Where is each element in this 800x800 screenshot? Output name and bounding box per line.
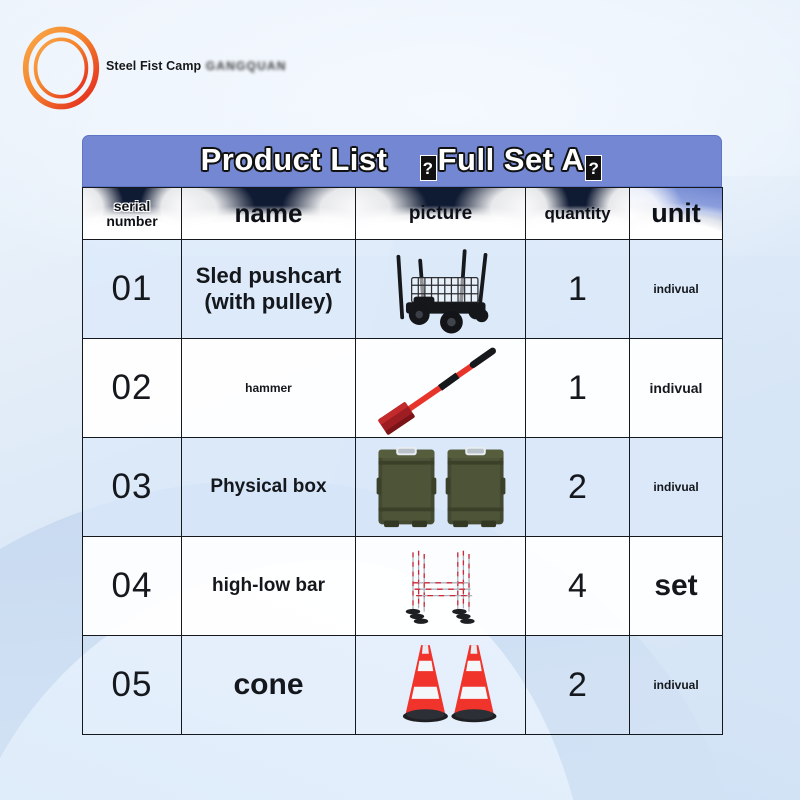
- product-name-line2: (with pulley): [182, 289, 355, 315]
- table-row: 04 high-low bar: [83, 537, 723, 636]
- brand-text-block: Steel Fist Camp GANGQUAN: [106, 57, 287, 79]
- page-title-inner: Full Set A: [438, 142, 585, 177]
- table-header-row: serial number name picture quantity: [83, 188, 723, 240]
- product-name-line1: Sled pushcart: [182, 263, 355, 289]
- cell-quantity: 2: [526, 636, 630, 735]
- column-header-serial-line1: serial: [83, 199, 181, 214]
- column-header-unit: unit: [630, 188, 723, 240]
- high-low-hurdle-bars-image-icon: [356, 538, 525, 634]
- two-olive-hard-cases-image-icon: [356, 439, 525, 535]
- cell-product-name: hammer: [182, 339, 356, 438]
- table-row: 05 cone: [83, 636, 723, 735]
- cell-product-picture: [356, 537, 526, 636]
- product-table: serial number name picture quantity: [82, 187, 723, 735]
- brand-name: Steel Fist Camp: [106, 59, 201, 73]
- column-header-unit-label: unit: [630, 199, 722, 227]
- cell-unit: indivual: [630, 240, 723, 339]
- cell-product-name: Sled pushcart (with pulley): [182, 240, 356, 339]
- two-traffic-cones-image-icon: [356, 637, 525, 733]
- cell-serial-number: 03: [83, 438, 182, 537]
- unit-label: indivual: [630, 380, 722, 396]
- cell-product-picture: [356, 339, 526, 438]
- title-bar: Product List ?Full Set A?: [82, 135, 722, 187]
- cell-unit: indivual: [630, 438, 723, 537]
- column-header-picture-label: picture: [356, 204, 525, 224]
- product-name-line1: cone: [182, 667, 355, 703]
- page-title: Product List ?Full Set A?: [201, 142, 604, 181]
- unit-label: indivual: [630, 678, 722, 692]
- cell-quantity: 1: [526, 240, 630, 339]
- cell-quantity: 1: [526, 339, 630, 438]
- column-header-name: name: [182, 188, 356, 240]
- steel-fist-circle-logo-icon: [20, 25, 102, 111]
- cell-serial-number: 05: [83, 636, 182, 735]
- cell-unit: indivual: [630, 636, 723, 735]
- cell-quantity: 4: [526, 537, 630, 636]
- column-header-serial-line2: number: [83, 214, 181, 229]
- cell-quantity: 2: [526, 438, 630, 537]
- unit-label: indivual: [630, 282, 722, 296]
- page-title-main: Product List: [201, 142, 388, 177]
- cell-unit: indivual: [630, 339, 723, 438]
- product-list-card: Product List ?Full Set A? serial number: [82, 135, 722, 735]
- brand-logo-block: Steel Fist Camp GANGQUAN: [20, 25, 287, 111]
- sled-pushcart-image-icon: [356, 241, 525, 337]
- column-header-serial-number: serial number: [83, 188, 182, 240]
- table-row: 01 Sled pushcart (with pulley): [83, 240, 723, 339]
- column-header-name-label: name: [182, 200, 355, 227]
- cell-serial-number: 04: [83, 537, 182, 636]
- unit-label: set: [630, 569, 722, 603]
- missing-glyph-close-bracket: ?: [585, 155, 602, 181]
- cell-product-name: Physical box: [182, 438, 356, 537]
- column-header-picture: picture: [356, 188, 526, 240]
- table-row: 02 hammer: [83, 339, 723, 438]
- cell-product-name: cone: [182, 636, 356, 735]
- cell-serial-number: 02: [83, 339, 182, 438]
- missing-glyph-open-bracket: ?: [420, 155, 437, 181]
- column-header-quantity-label: quantity: [526, 205, 629, 223]
- cell-product-picture: [356, 438, 526, 537]
- brand-subtitle: GANGQUAN: [206, 59, 287, 73]
- unit-label: indivual: [630, 480, 722, 494]
- table-row: 03 Physical box: [83, 438, 723, 537]
- column-header-quantity: quantity: [526, 188, 630, 240]
- cell-product-name: high-low bar: [182, 537, 356, 636]
- cell-serial-number: 01: [83, 240, 182, 339]
- sledgehammer-image-icon: [356, 340, 525, 436]
- cell-product-picture: [356, 240, 526, 339]
- cell-unit: set: [630, 537, 723, 636]
- cell-product-picture: [356, 636, 526, 735]
- table-header: serial number name picture quantity: [83, 188, 723, 240]
- table-body: 01 Sled pushcart (with pulley): [83, 240, 723, 735]
- product-name-line1: Physical box: [182, 476, 355, 499]
- product-list-page: Steel Fist Camp GANGQUAN Product List ?F…: [0, 0, 800, 800]
- product-name-line1: high-low bar: [182, 575, 355, 598]
- product-name-line1: hammer: [182, 381, 355, 395]
